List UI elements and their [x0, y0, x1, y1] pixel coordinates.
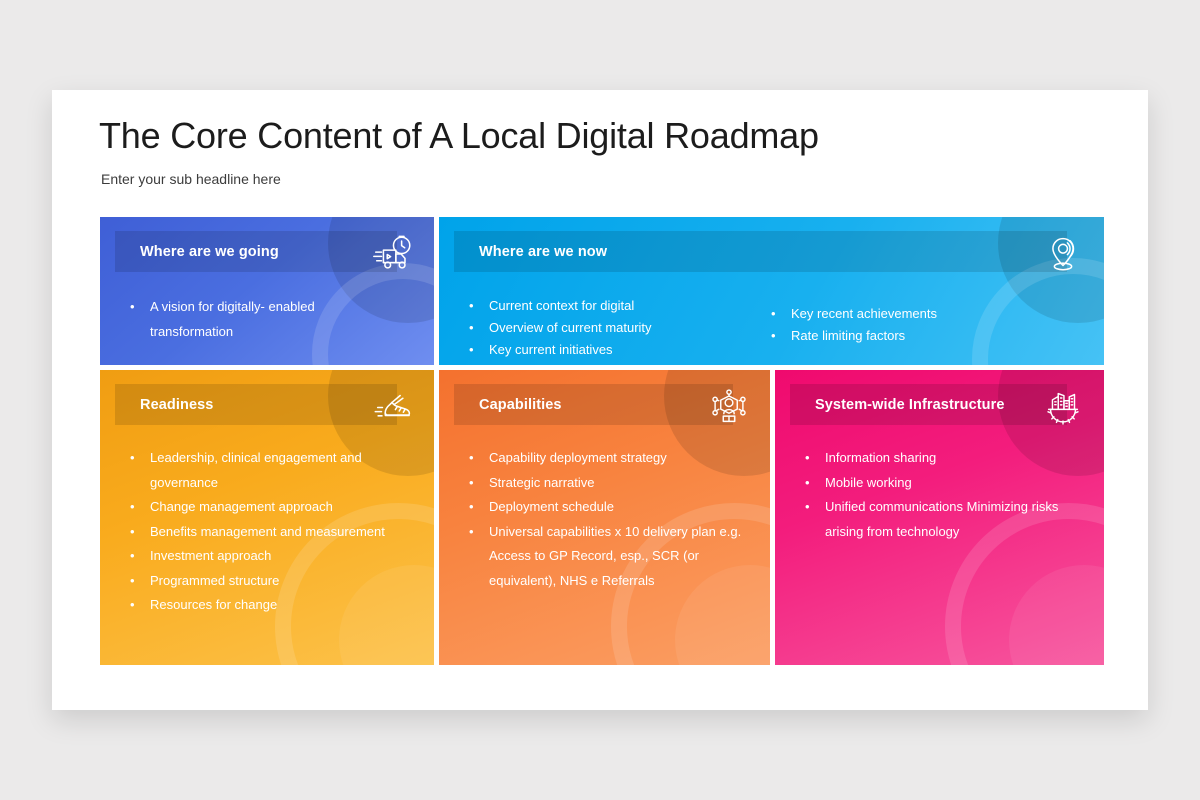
- people-network-icon: [706, 384, 752, 430]
- list-item: Programmed structure: [128, 569, 408, 594]
- card-heading: Capabilities: [454, 397, 562, 413]
- list-item: Overview of current maturity: [467, 317, 757, 339]
- list-item: Capability deployment strategy: [467, 446, 752, 471]
- card-header-band: Where are we going: [115, 231, 397, 272]
- list-item: Deployment schedule: [467, 495, 752, 520]
- list-item: Key recent achievements: [769, 303, 1069, 325]
- list-item: Key current initiatives: [467, 339, 757, 361]
- card-where-are-we-going[interactable]: Where are we going A vision for digi: [100, 217, 434, 365]
- card-header-band: Capabilities: [454, 384, 733, 425]
- page-subtitle: Enter your sub headline here: [101, 171, 281, 187]
- card-where-are-we-now[interactable]: Where are we now Current context for dig…: [439, 217, 1104, 365]
- card-header-band: System-wide Infrastructure: [790, 384, 1067, 425]
- list-item: Unified communications Minimizing risks …: [803, 495, 1083, 544]
- card-heading: Where are we going: [115, 244, 279, 260]
- list-item: Information sharing: [803, 446, 1083, 471]
- page-title: The Core Content of A Local Digital Road…: [99, 115, 819, 157]
- list-item: Strategic narrative: [467, 471, 752, 496]
- card-capabilities[interactable]: Capabilities C: [439, 370, 770, 665]
- card-header-band: Where are we now: [454, 231, 1067, 272]
- list-item: Current context for digital: [467, 295, 757, 317]
- bullet-list: Capability deployment strategy Strategic…: [467, 446, 752, 593]
- delivery-truck-clock-icon: [370, 231, 416, 277]
- city-buildings-gear-icon: [1040, 384, 1086, 430]
- list-item: Benefits management and measurement: [128, 520, 408, 545]
- bullet-list-left: Current context for digital Overview of …: [467, 295, 757, 361]
- bullet-list: Information sharing Mobile working Unifi…: [803, 446, 1083, 544]
- card-heading: System-wide Infrastructure: [790, 397, 1005, 413]
- card-header-band: Readiness: [115, 384, 397, 425]
- card-heading: Where are we now: [454, 244, 607, 260]
- bullet-list: Leadership, clinical engagement and gove…: [128, 446, 408, 618]
- bullet-list-right: Key recent achievements Rate limiting fa…: [769, 303, 1069, 347]
- list-item: Mobile working: [803, 471, 1083, 496]
- card-heading: Readiness: [115, 397, 213, 413]
- list-item: Leadership, clinical engagement and gove…: [128, 446, 408, 495]
- location-pin-signal-icon: [1040, 231, 1086, 277]
- list-item: Investment approach: [128, 544, 408, 569]
- list-item: Resources for change: [128, 593, 408, 618]
- bullet-list: A vision for digitally- enabled transfor…: [128, 295, 398, 344]
- list-item: Change management approach: [128, 495, 408, 520]
- card-readiness[interactable]: Readiness Leadership, clinical engagemen…: [100, 370, 434, 665]
- list-item: A vision for digitally- enabled transfor…: [128, 295, 398, 344]
- running-shoe-icon: [370, 384, 416, 430]
- cards-grid: Where are we going A vision for digi: [100, 217, 1104, 665]
- list-item: Universal capabilities x 10 delivery pla…: [467, 520, 752, 594]
- slide-canvas: The Core Content of A Local Digital Road…: [52, 90, 1148, 710]
- list-item: Rate limiting factors: [769, 325, 1069, 347]
- ring-fill-decoration: [1009, 565, 1104, 665]
- card-system-wide-infrastructure[interactable]: System-wide Infrastructure Information s…: [775, 370, 1104, 665]
